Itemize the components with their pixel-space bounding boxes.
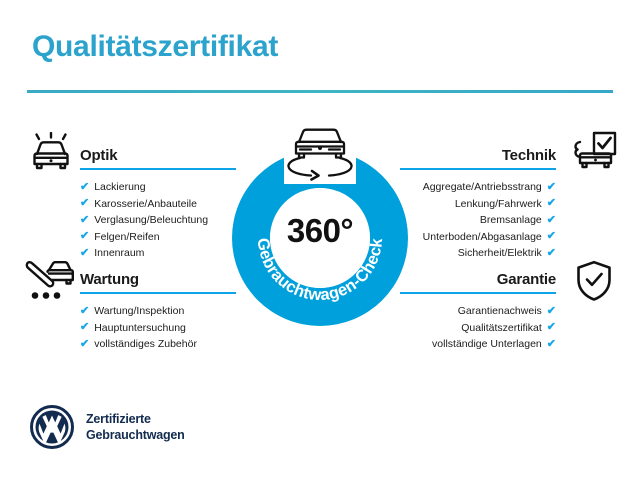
section-title-optik: Optik	[80, 147, 117, 164]
list-item-label: Verglasung/Beleuchtung	[94, 212, 208, 229]
car-rotation-360-icon	[278, 120, 362, 187]
section-title-wartung: Wartung	[80, 271, 139, 288]
car-service-lift-icon	[22, 258, 76, 307]
section-divider-optik	[80, 168, 236, 170]
section-title-garantie: Garantie	[497, 271, 556, 288]
section-garantie: Garantie Garantienachweis✔ Qualitätszert…	[400, 264, 556, 353]
check-icon: ✔	[547, 182, 556, 193]
section-divider-wartung	[80, 292, 236, 294]
list-item-label: Lackierung	[94, 179, 145, 196]
list-item-label: Aggregate/Antriebsstrang	[423, 179, 542, 196]
check-icon: ✔	[547, 215, 556, 226]
badge-360-gebrauchtwagen-check: Gebrauchtwagen-Check 360°	[232, 150, 408, 326]
checklist-garantie: Garantienachweis✔ Qualitätszertifikat✔ v…	[400, 303, 556, 353]
volkswagen-logo	[30, 405, 74, 449]
list-item-label: Lenkung/Fahrwerk	[455, 196, 542, 213]
section-title-technik: Technik	[502, 147, 556, 164]
list-item-label: Wartung/Inspektion	[94, 303, 184, 320]
list-item-label: Unterboden/Abgasanlage	[423, 229, 542, 246]
page-title: Qualitätszertifikat	[32, 30, 278, 64]
section-technik: Technik Aggregate/Antriebsstrang✔ Lenkun…	[400, 140, 556, 262]
list-item-label: Qualitätszertifikat	[461, 320, 542, 337]
list-item: ✔Innenraum	[80, 245, 236, 262]
check-icon: ✔	[547, 248, 556, 259]
list-item-label: Garantienachweis	[458, 303, 542, 320]
list-item-label: vollständige Unterlagen	[432, 336, 542, 353]
section-wartung: Wartung ✔Wartung/Inspektion ✔Hauptunters…	[80, 264, 236, 353]
list-item: Aggregate/Antriebsstrang✔	[400, 179, 556, 196]
list-item: ✔Wartung/Inspektion	[80, 303, 236, 320]
title-divider	[27, 90, 613, 93]
list-item-label: Bremsanlage	[480, 212, 542, 229]
quality-certificate-page: Qualitätszertifikat Optik ✔Lackierung ✔K…	[0, 0, 640, 480]
list-item: Unterboden/Abgasanlage✔	[400, 229, 556, 246]
list-item-label: Felgen/Reifen	[94, 229, 159, 246]
list-item: ✔Karosserie/Anbauteile	[80, 196, 236, 213]
check-icon: ✔	[80, 215, 89, 226]
list-item: Garantienachweis✔	[400, 303, 556, 320]
footer-text: Zertifizierte Gebrauchtwagen	[86, 411, 185, 443]
badge-center-label: 360°	[232, 212, 408, 250]
check-icon: ✔	[547, 231, 556, 242]
shield-check-icon	[572, 259, 616, 308]
footer-line-2: Gebrauchtwagen	[86, 427, 185, 443]
section-header-garantie: Garantie	[400, 264, 556, 294]
checklist-wartung: ✔Wartung/Inspektion ✔Hauptuntersuchung ✔…	[80, 303, 236, 353]
footer-branding: Zertifizierte Gebrauchtwagen	[30, 405, 185, 449]
check-icon: ✔	[547, 339, 556, 350]
section-header-wartung: Wartung	[80, 264, 236, 294]
list-item: Sicherheit/Elektrik✔	[400, 245, 556, 262]
list-item: ✔vollständiges Zubehör	[80, 336, 236, 353]
check-icon: ✔	[80, 198, 89, 209]
check-icon: ✔	[80, 322, 89, 333]
footer-line-1: Zertifizierte	[86, 411, 185, 427]
check-icon: ✔	[547, 198, 556, 209]
list-item-label: Sicherheit/Elektrik	[458, 245, 542, 262]
list-item-label: Karosserie/Anbauteile	[94, 196, 197, 213]
check-icon: ✔	[80, 306, 89, 317]
check-icon: ✔	[547, 322, 556, 333]
section-header-optik: Optik	[80, 140, 236, 170]
section-optik: Optik ✔Lackierung ✔Karosserie/Anbauteile…	[80, 140, 236, 262]
list-item-label: vollständiges Zubehör	[94, 336, 197, 353]
list-item: vollständige Unterlagen✔	[400, 336, 556, 353]
check-icon: ✔	[80, 231, 89, 242]
check-icon: ✔	[80, 339, 89, 350]
checklist-optik: ✔Lackierung ✔Karosserie/Anbauteile ✔Verg…	[80, 179, 236, 262]
list-item-label: Innenraum	[94, 245, 144, 262]
check-icon: ✔	[80, 182, 89, 193]
section-divider-garantie	[400, 292, 556, 294]
list-item: Lenkung/Fahrwerk✔	[400, 196, 556, 213]
shiny-car-icon	[26, 132, 76, 179]
list-item: Qualitätszertifikat✔	[400, 320, 556, 337]
check-icon: ✔	[547, 306, 556, 317]
list-item: Bremsanlage✔	[400, 212, 556, 229]
check-icon: ✔	[80, 248, 89, 259]
section-header-technik: Technik	[400, 140, 556, 170]
list-item: ✔Lackierung	[80, 179, 236, 196]
list-item: ✔Hauptuntersuchung	[80, 320, 236, 337]
section-divider-technik	[400, 168, 556, 170]
checklist-technik: Aggregate/Antriebsstrang✔ Lenkung/Fahrwe…	[400, 179, 556, 262]
list-item: ✔Felgen/Reifen	[80, 229, 236, 246]
list-item-label: Hauptuntersuchung	[94, 320, 186, 337]
list-item: ✔Verglasung/Beleuchtung	[80, 212, 236, 229]
car-checkbox-icon	[566, 131, 618, 178]
